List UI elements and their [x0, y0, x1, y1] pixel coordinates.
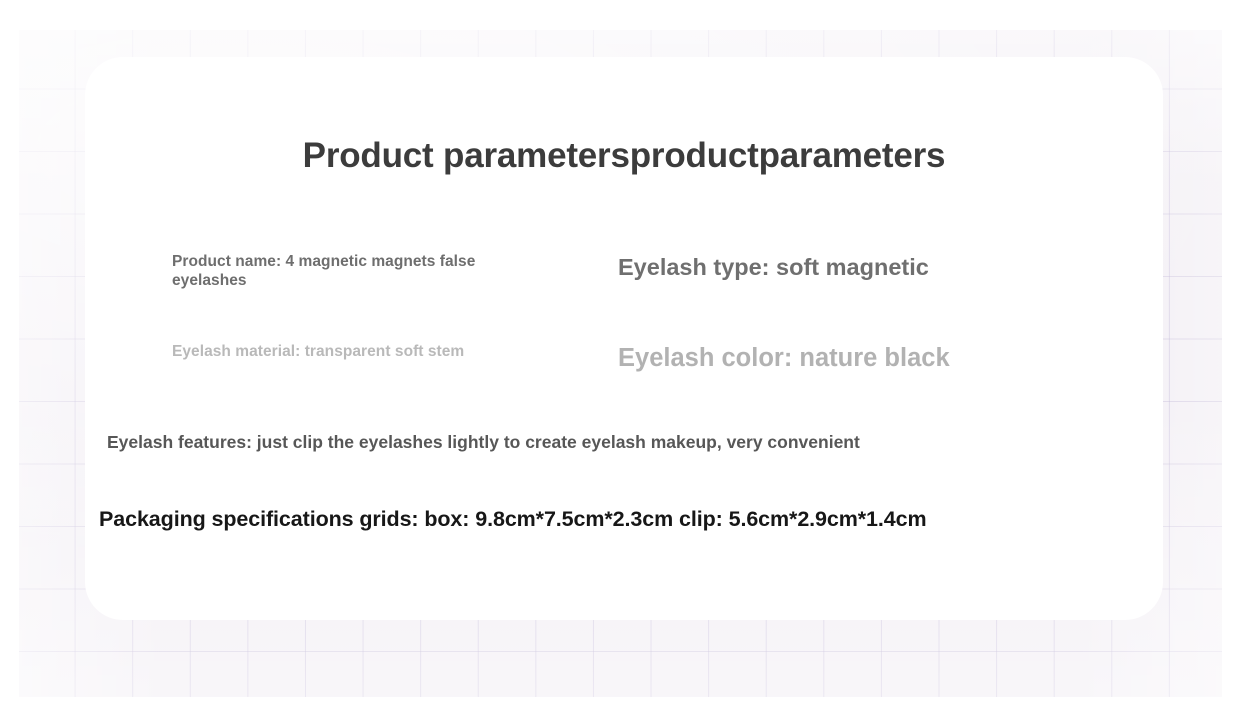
spec-value-packaging-specifications: Packaging specifications grids: box: 9.8…	[99, 507, 927, 533]
spec-table: Product name: 4 magnetic magnets false e…	[85, 253, 1163, 433]
page-title: Product parametersproductparameters	[85, 136, 1163, 176]
spec-value-eyelash-material: Eyelash material: transparent soft stem	[172, 343, 552, 362]
spec-row: Product name: 4 magnetic magnets false e…	[85, 253, 1163, 343]
spec-value-eyelash-features: Eyelash features: just clip the eyelashe…	[107, 432, 860, 453]
spec-cell-eyelash-type: Eyelash type: soft magnetic	[618, 253, 1118, 281]
spec-cell-eyelash-material: Eyelash material: transparent soft stem	[172, 343, 552, 362]
product-parameters-screenshot: Product parametersproductparameters Prod…	[0, 0, 1242, 725]
spec-value-product-name: Product name: 4 magnetic magnets false e…	[172, 253, 552, 291]
spec-row: Eyelash material: transparent soft stem …	[85, 343, 1163, 433]
product-parameters-card: Product parametersproductparameters Prod…	[85, 57, 1163, 620]
spec-value-eyelash-type: Eyelash type: soft magnetic	[618, 253, 1118, 281]
spec-cell-product-name: Product name: 4 magnetic magnets false e…	[172, 253, 552, 291]
spec-value-eyelash-color: Eyelash color: nature black	[618, 343, 1118, 374]
spec-cell-eyelash-color: Eyelash color: nature black	[618, 343, 1118, 374]
